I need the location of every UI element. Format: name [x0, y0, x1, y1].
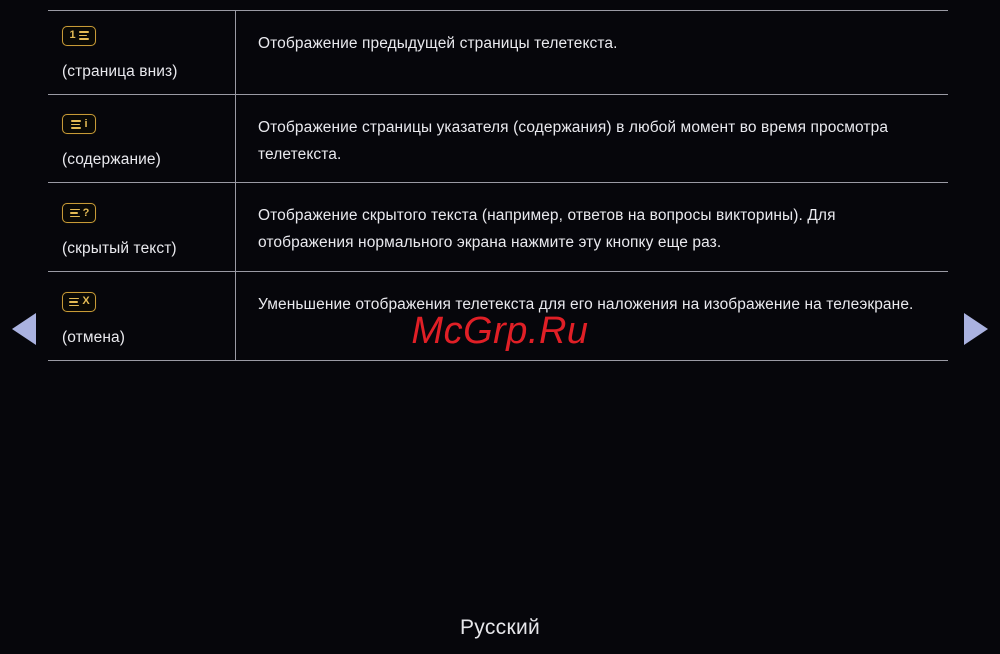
- footer-language-label: Русский: [0, 616, 1000, 640]
- table-cell-key: 1 (страница вниз): [48, 11, 236, 94]
- table-cell-description: Отображение страницы указателя (содержан…: [236, 95, 948, 183]
- key-label: (содержание): [62, 150, 235, 170]
- teletext-buttons-table: 1 (страница вниз) Отображение предыдущей…: [48, 10, 948, 361]
- list-bars-icon: [78, 31, 89, 40]
- table-cell-key: ? (скрытый текст): [48, 183, 236, 271]
- table-row: i (содержание) Отображение страницы указ…: [48, 94, 948, 183]
- table-cell-description: Отображение предыдущей страницы телетекс…: [236, 11, 948, 94]
- teletext-page-down-icon: 1: [62, 26, 96, 46]
- teletext-reveal-icon: ?: [62, 203, 96, 223]
- watermark: McGrp.Ru: [0, 310, 1000, 353]
- key-label: (скрытый текст): [62, 239, 235, 259]
- teletext-cancel-icon: X: [62, 292, 96, 312]
- table-cell-description: Отображение скрытого текста (например, о…: [236, 183, 948, 271]
- table-row: ? (скрытый текст) Отображение скрытого т…: [48, 182, 948, 271]
- table-cell-key: i (содержание): [48, 95, 236, 183]
- list-bars-icon: [68, 298, 79, 307]
- key-label: (страница вниз): [62, 62, 235, 82]
- table-row: 1 (страница вниз) Отображение предыдущей…: [48, 10, 948, 94]
- manual-page: 1 (страница вниз) Отображение предыдущей…: [0, 0, 1000, 654]
- list-bars-icon: [69, 209, 80, 218]
- list-bars-icon: [70, 120, 81, 129]
- teletext-index-icon: i: [62, 114, 96, 134]
